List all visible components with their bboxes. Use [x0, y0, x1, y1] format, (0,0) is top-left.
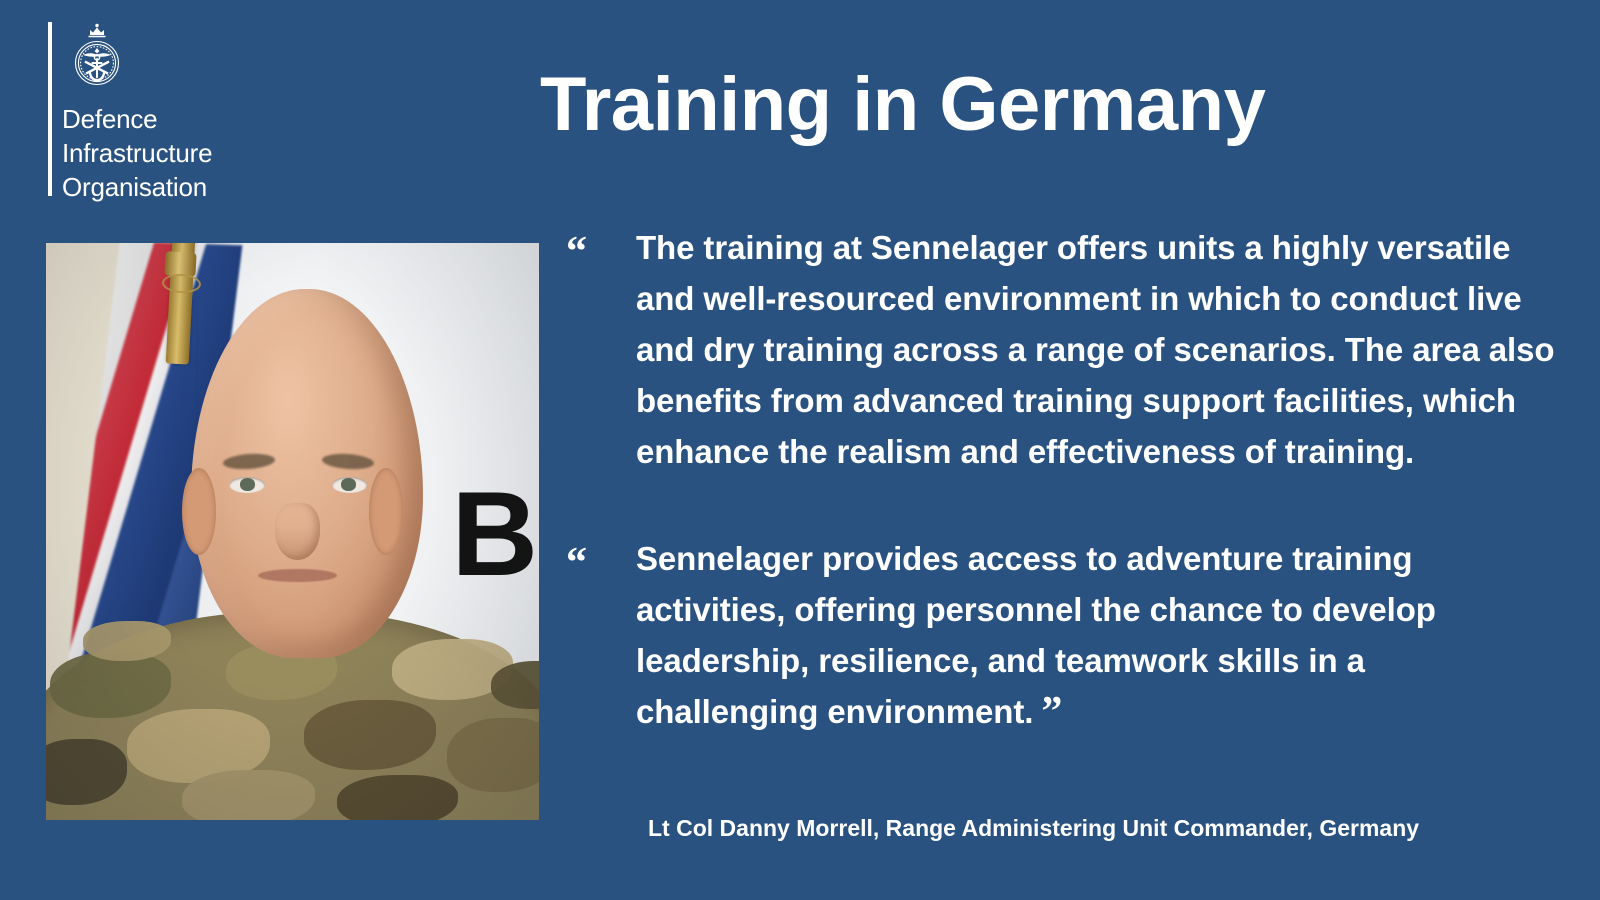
brand-line-2: Infrastructure — [62, 136, 212, 170]
banner-letter: B — [451, 474, 534, 594]
quote-attribution: Lt Col Danny Morrell, Range Administerin… — [648, 813, 1548, 843]
dio-logo-text: Defence Infrastructure Organisation — [62, 102, 212, 204]
subject-ear-right — [369, 468, 404, 555]
mod-crest-icon — [66, 18, 128, 96]
quote-body: Sennelager provides access to adventure … — [636, 540, 1436, 730]
subject-nose — [275, 503, 319, 561]
portrait-photo: B — [46, 243, 539, 820]
brand-line-1: Defence — [62, 102, 212, 136]
slide-canvas: Defence Infrastructure Organisation Trai… — [0, 0, 1600, 900]
quote-open-mark-icon: “ — [566, 231, 587, 273]
quote-text: The training at Sennelager offers units … — [636, 222, 1556, 477]
quote-block: “ Sennelager provides access to adventur… — [566, 533, 1556, 738]
brand-line-3: Organisation — [62, 170, 212, 204]
quote-open-mark-icon: “ — [566, 542, 587, 584]
logo-vertical-rule — [48, 22, 52, 196]
flag-pole-finial — [165, 251, 197, 277]
subject-iris-right — [341, 478, 355, 490]
subject-ear-left — [182, 468, 217, 555]
quote-close-mark-icon: ” — [1041, 689, 1062, 735]
quote-text: Sennelager provides access to adventure … — [636, 533, 1556, 738]
quote-list: “ The training at Sennelager offers unit… — [566, 222, 1556, 794]
quote-body: The training at Sennelager offers units … — [636, 229, 1554, 470]
page-title: Training in Germany — [540, 62, 1560, 148]
subject-iris-left — [240, 478, 254, 490]
quote-block: “ The training at Sennelager offers unit… — [566, 222, 1556, 477]
dio-logo: Defence Infrastructure Organisation — [40, 18, 340, 198]
